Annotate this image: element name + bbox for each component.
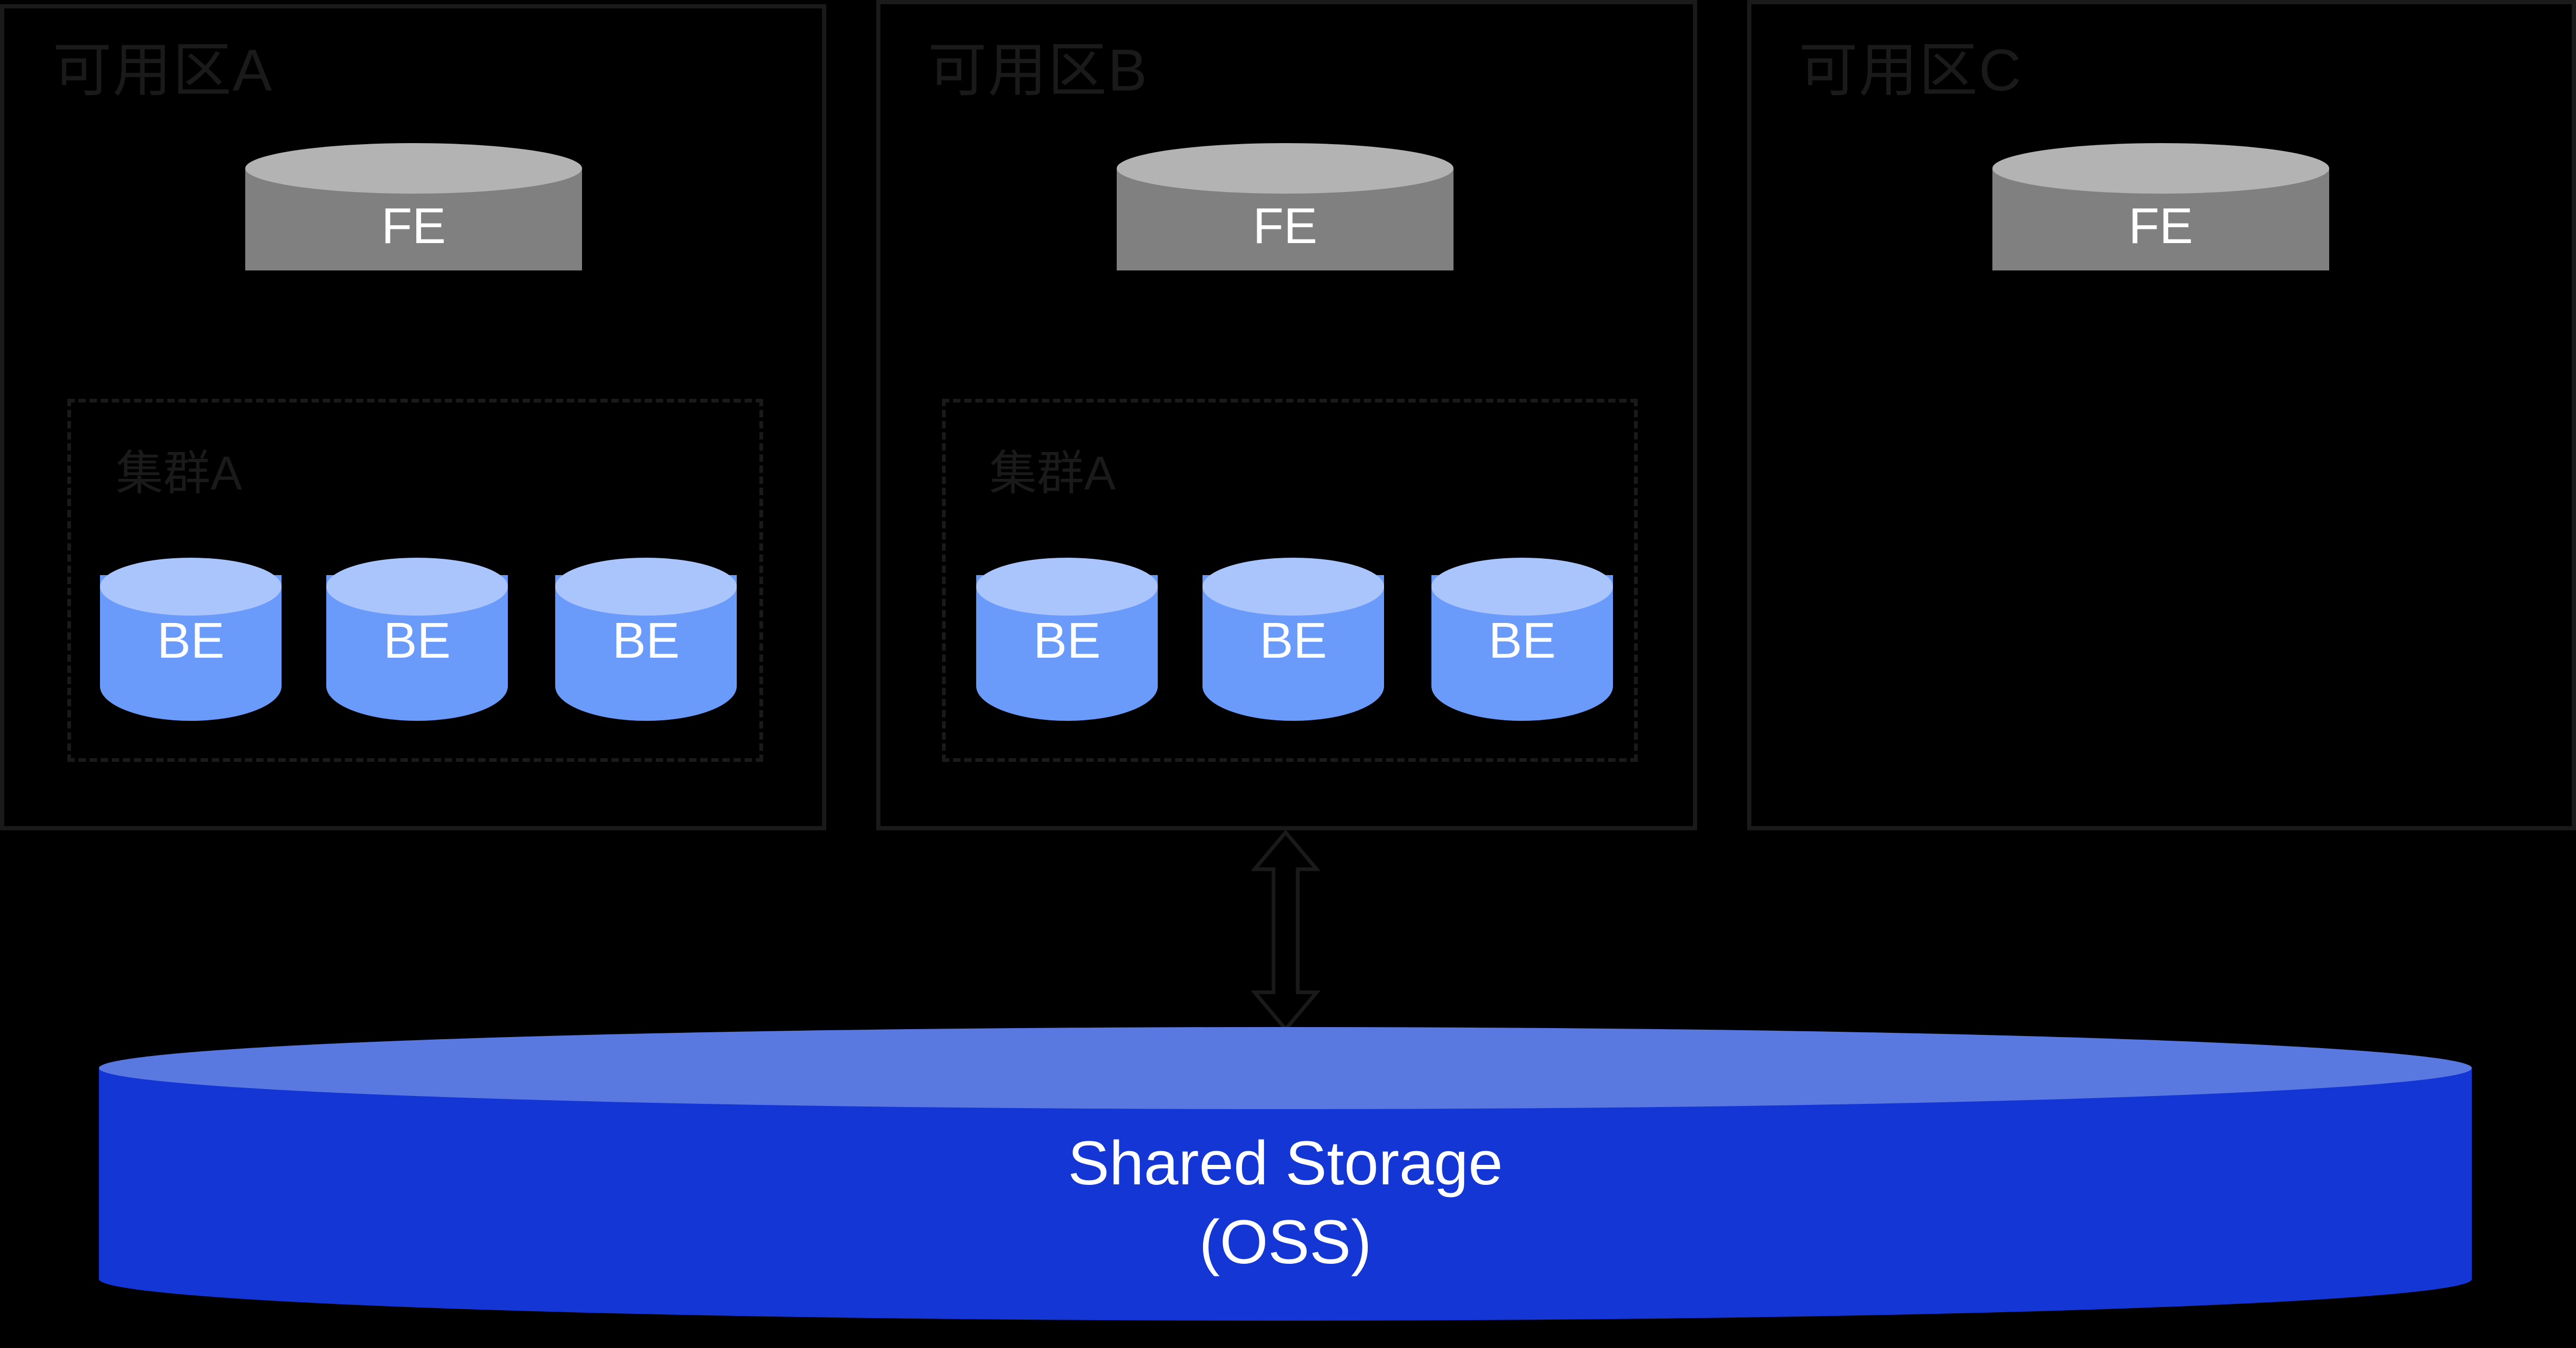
be-node-label: BE [976, 613, 1158, 669]
cluster-box-zone-b-label: 集群A [989, 450, 1116, 497]
fe-node-zone-a[interactable]: FE [245, 143, 582, 296]
be-node-zone-a-1[interactable]: BE [100, 558, 282, 721]
fe-node-zone-b[interactable]: FE [1117, 143, 1454, 296]
shared-storage-label-line1: Shared Storage [99, 1130, 2472, 1198]
be-cylinder-top [555, 558, 737, 616]
be-cylinder-top [100, 558, 282, 616]
availability-zone-a-label: 可用区A [53, 41, 273, 100]
be-node-zone-b-3[interactable]: BE [1431, 558, 1613, 721]
fe-node-label: FE [1992, 198, 2329, 254]
shared-storage-node[interactable]: Shared Storage (OSS) [99, 1027, 2472, 1321]
shared-storage-cylinder-top [99, 1027, 2472, 1109]
fe-node-label: FE [245, 198, 582, 254]
fe-cylinder-top [1117, 143, 1454, 194]
be-cylinder-top [1431, 558, 1613, 616]
fe-node-zone-c[interactable]: FE [1992, 143, 2329, 296]
cluster-box-zone-a-label: 集群A [116, 450, 242, 497]
be-node-zone-a-3[interactable]: BE [555, 558, 737, 721]
availability-zone-c-label: 可用区C [1799, 41, 2022, 100]
be-node-zone-b-2[interactable]: BE [1202, 558, 1384, 721]
availability-zone-b-label: 可用区B [928, 41, 1148, 100]
shared-storage-label-line2: (OSS) [99, 1209, 2472, 1277]
be-node-zone-b-1[interactable]: BE [976, 558, 1158, 721]
be-node-label: BE [100, 613, 282, 669]
diagram-canvas: 可用区A FE 集群A BE BE BE 可用区B FE 集群A [0, 0, 2576, 1348]
be-cylinder-top [326, 558, 508, 616]
be-node-label: BE [326, 613, 508, 669]
be-node-label: BE [555, 613, 737, 669]
availability-zone-c [1747, 0, 2576, 830]
fe-node-label: FE [1117, 198, 1454, 254]
storage-link-arrow [1251, 830, 1320, 1031]
be-cylinder-top [1202, 558, 1384, 616]
double-arrow-shape [1255, 832, 1317, 1029]
fe-cylinder-top [245, 143, 582, 194]
fe-cylinder-top [1992, 143, 2329, 194]
be-node-label: BE [1431, 613, 1613, 669]
be-cylinder-top [976, 558, 1158, 616]
be-node-zone-a-2[interactable]: BE [326, 558, 508, 721]
be-node-label: BE [1202, 613, 1384, 669]
